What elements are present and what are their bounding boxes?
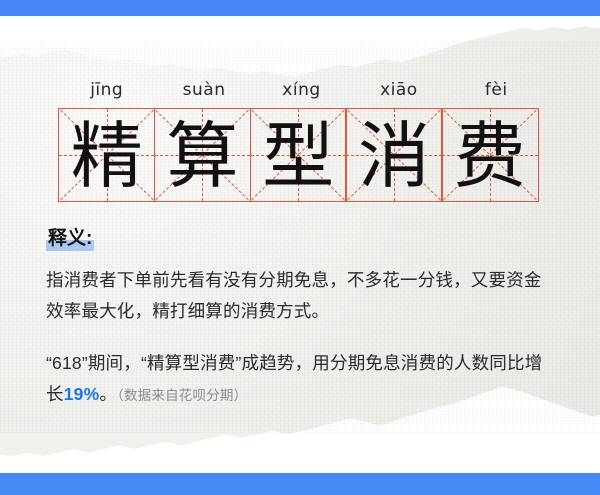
character-glyph: 精 (71, 120, 143, 192)
pinyin-jing: jīng (58, 80, 155, 100)
pinyin-row: jīng suàn xíng xiāo fèi (58, 80, 545, 100)
character-cell-4: 消 (345, 108, 442, 202)
character-glyph: 算 (166, 120, 238, 192)
statistic-percent-value: 19% (64, 384, 100, 404)
character-glyph: 消 (358, 120, 430, 192)
pinyin-fei: fèi (448, 80, 545, 100)
character-grid: 精 算 型 消 (58, 108, 545, 202)
definition-block: 释义: 指消费者下单前先看有没有分期免息，不多花一分钱，又要资金效率最大化，精打… (46, 228, 546, 411)
card-content: jīng suàn xíng xiāo fèi 精 算 (0, 0, 600, 495)
character-cell-3: 型 (250, 108, 347, 202)
definition-paragraph: 指消费者下单前先看有没有分期免息，不多花一分钱，又要资金效率最大化，精打细算的消… (46, 265, 546, 327)
statistic-tail-text: 。 (99, 384, 117, 404)
character-cell-2: 算 (154, 108, 251, 202)
statistic-paragraph: “618”期间，“精算型消费”成趋势，用分期免息消费的人数同比增长19%。（数据… (46, 348, 546, 411)
statistic-source-note: （数据来自花呗分期） (117, 388, 247, 403)
definition-heading-label: 释义: (48, 228, 92, 249)
pinyin-xing: xíng (253, 80, 350, 100)
definition-heading: 释义: (46, 228, 94, 251)
character-glyph: 型 (262, 120, 334, 192)
character-cell-5: 费 (441, 108, 538, 202)
character-cell-1: 精 (58, 108, 155, 202)
character-glyph: 费 (454, 120, 526, 192)
pinyin-xiao: xiāo (350, 80, 447, 100)
poster-card: jīng suàn xíng xiāo fèi 精 算 (0, 0, 600, 495)
pinyin-suan: suàn (155, 80, 252, 100)
